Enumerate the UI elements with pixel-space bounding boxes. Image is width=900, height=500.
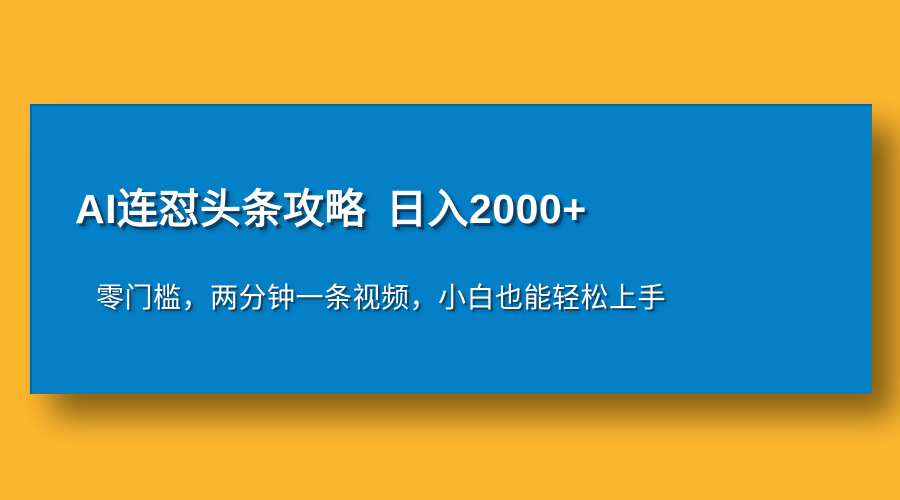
promo-poster: AI连怼头条攻略日入2000+ 零门槛，两分钟一条视频，小白也能轻松上手 xyxy=(0,0,900,500)
headline-main: AI连怼头条攻略 xyxy=(75,186,366,232)
card-inner-rim xyxy=(30,104,872,394)
content-card: AI连怼头条攻略日入2000+ 零门槛，两分钟一条视频，小白也能轻松上手 xyxy=(30,104,872,394)
headline: AI连怼头条攻略日入2000+ xyxy=(75,186,587,233)
subheadline: 零门槛，两分钟一条视频，小白也能轻松上手 xyxy=(96,281,666,315)
headline-highlight: 日入2000+ xyxy=(386,186,587,232)
